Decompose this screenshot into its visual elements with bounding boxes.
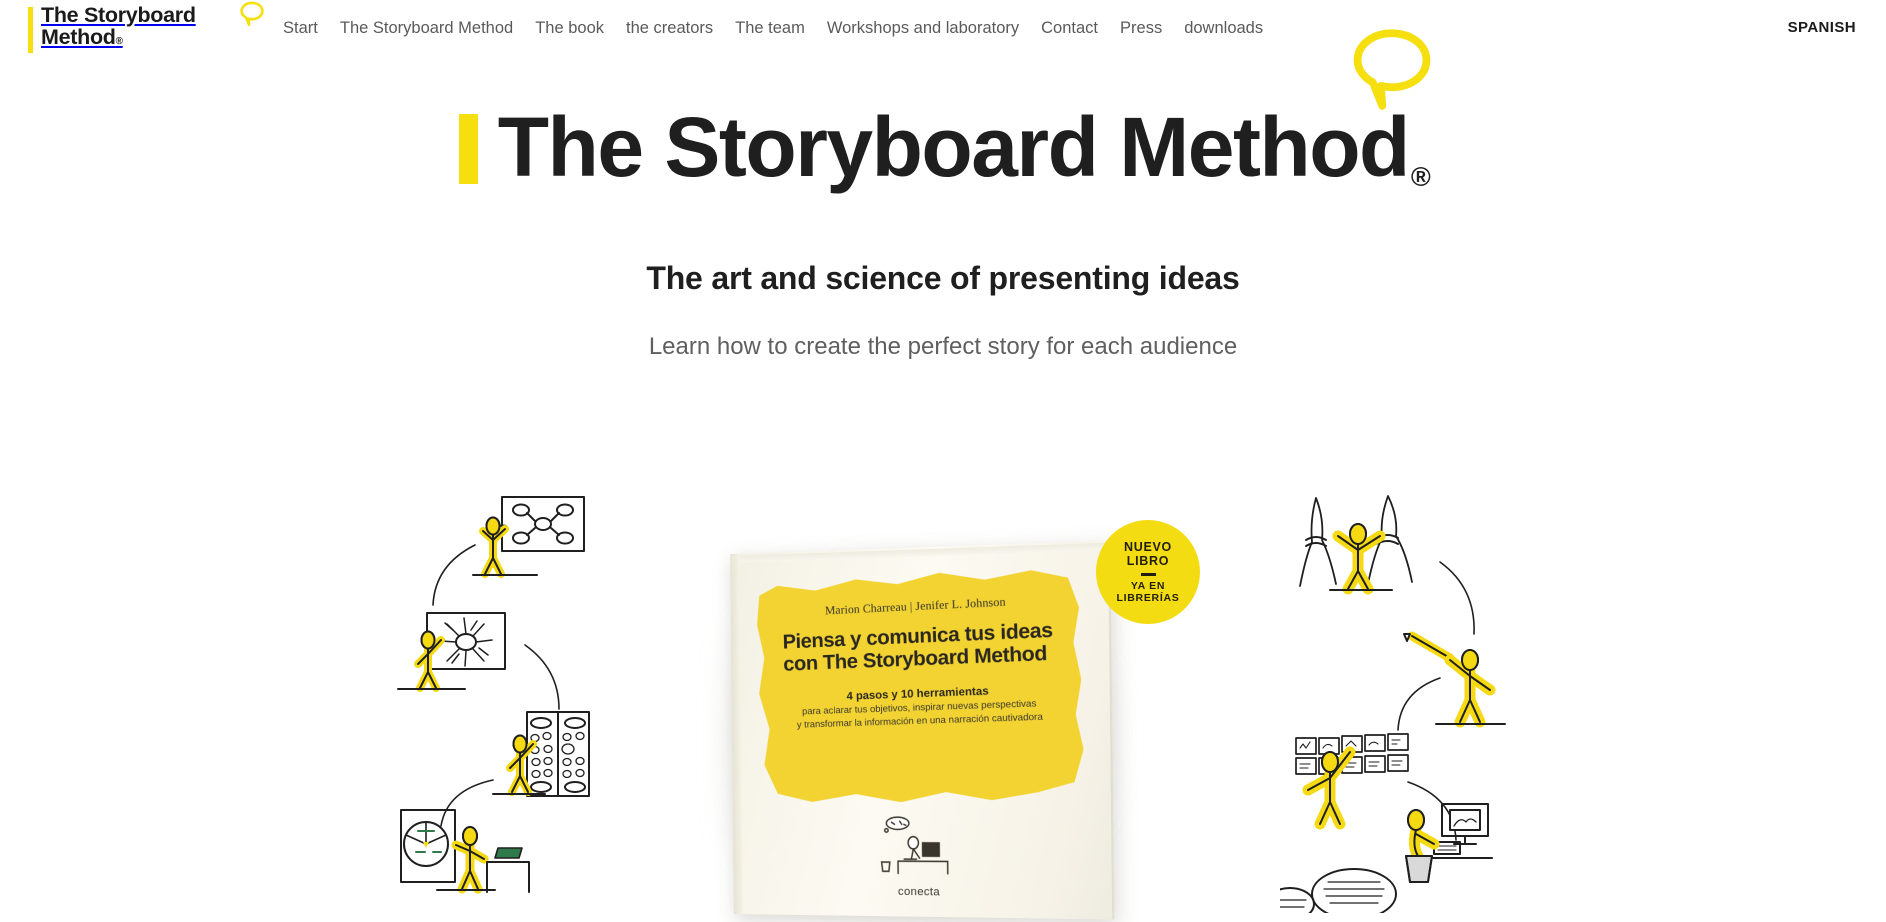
brand-logo[interactable]: The Storyboard Method® [28, 5, 196, 53]
figure-arranging-storyboard-cards [1296, 734, 1408, 824]
nav-item-downloads[interactable]: downloads [1184, 19, 1263, 38]
nav-item-press[interactable]: Press [1120, 19, 1162, 38]
badge-line-2: LIBRO [1127, 554, 1169, 569]
book-3d: Marion Charreau | Jenifer L. Johnson Pie… [730, 541, 1114, 920]
figure-pointing-at-sticky-note-grid [493, 712, 589, 796]
figure-seated-at-monitor [1406, 804, 1492, 882]
hero-registered-mark: ® [1411, 162, 1429, 192]
site-header: The Storyboard Method® Start The Storybo… [0, 0, 1886, 62]
right-illustration-group [1280, 490, 1545, 913]
language-switch-spanish[interactable]: SPANISH [1788, 19, 1856, 36]
brand-registered-mark: ® [116, 36, 123, 47]
figure-pointing-at-radial-diagram-board [398, 613, 505, 689]
hero-tagline: Learn how to create the perfect story fo… [0, 333, 1886, 361]
book-publisher: conecta [898, 886, 940, 899]
badge-divider [1141, 573, 1156, 576]
hero-section: The Storyboard Method® The art and scien… [0, 62, 1886, 361]
nav-item-the-book[interactable]: The book [535, 19, 604, 38]
nav-item-the-creators[interactable]: the creators [626, 19, 713, 38]
book-authors: Marion Charreau | Jenifer L. Johnson [757, 593, 1079, 621]
main-navigation: Start The Storyboard Method The book the… [283, 19, 1263, 38]
brand-line-1: The Storyboard [41, 5, 196, 27]
hero-title-area: The Storyboard Method® [0, 62, 1886, 232]
figure-pointing-at-mindmap-board [473, 497, 584, 575]
hero-illustration-row: Marion Charreau | Jenifer L. Johnson Pie… [0, 490, 1886, 913]
figure-holding-pencil [1404, 634, 1505, 724]
brand-accent-bar [28, 7, 33, 53]
nav-item-start[interactable]: Start [283, 19, 318, 38]
desk-figure-illustration [857, 816, 982, 876]
hero-subtitle: The art and science of presenting ideas [0, 260, 1886, 297]
badge-line-1: NUEVO [1124, 540, 1172, 555]
badge-line-4: LIBRERÍAS [1117, 592, 1180, 604]
nav-item-contact[interactable]: Contact [1041, 19, 1098, 38]
nav-item-the-storyboard-method[interactable]: The Storyboard Method [340, 19, 513, 38]
speech-bubbles-with-text-lines [1280, 869, 1396, 913]
hero-accent-bar [459, 114, 478, 184]
left-illustration-group [375, 490, 615, 913]
speech-bubble-icon [1349, 27, 1435, 113]
page-title: The Storyboard Method® [498, 105, 1428, 189]
nav-item-workshops-and-laboratory[interactable]: Workshops and laboratory [827, 19, 1019, 38]
speech-bubble-icon [239, 1, 265, 27]
book-cover-text: Marion Charreau | Jenifer L. Johnson Pie… [756, 566, 1085, 806]
figure-on-stage-with-curtains [1300, 496, 1412, 590]
new-book-badge[interactable]: NUEVO LIBRO YA EN LIBRERÍAS [1096, 520, 1200, 624]
book-cover-image: Marion Charreau | Jenifer L. Johnson Pie… [690, 510, 1150, 913]
brand-line-2: Method® [41, 27, 196, 49]
nav-item-the-team[interactable]: The team [735, 19, 805, 38]
brand-wordmark: The Storyboard Method® [41, 5, 196, 49]
figure-pointing-at-pie-chart-with-laptop [401, 810, 529, 892]
badge-line-3: YA EN [1131, 580, 1165, 592]
